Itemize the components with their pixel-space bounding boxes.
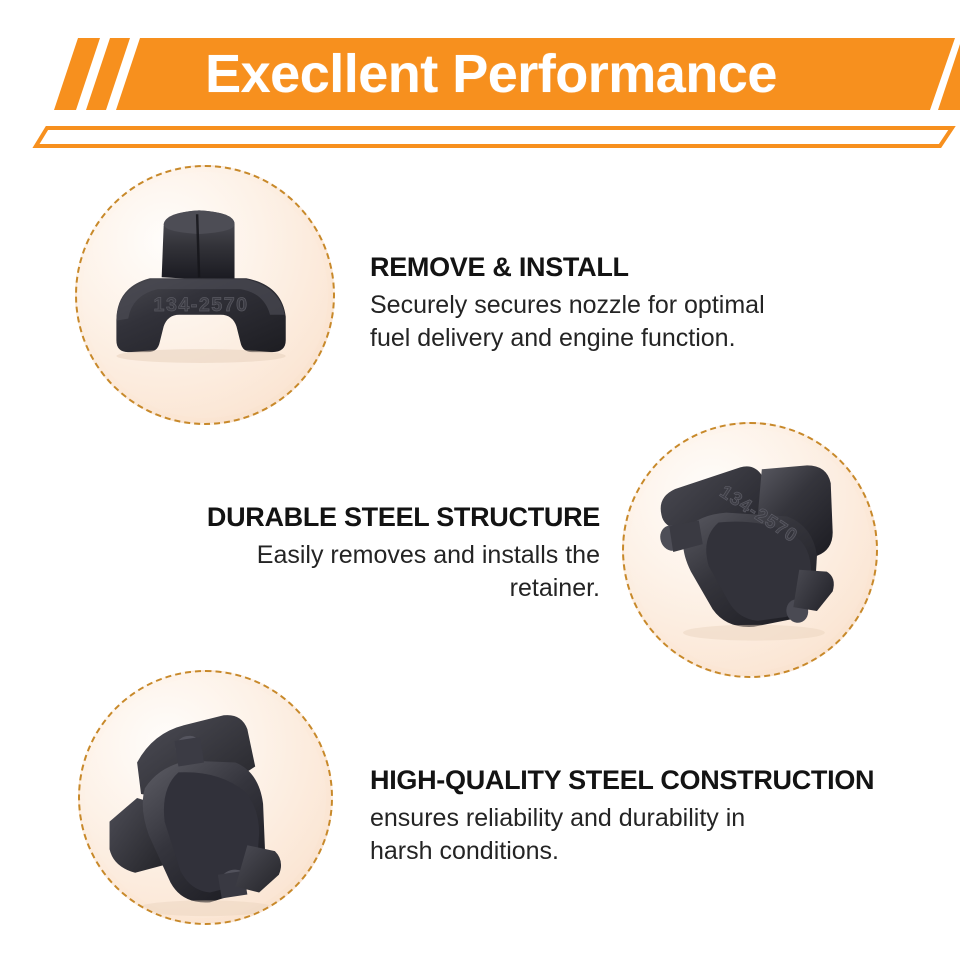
feature-title: REMOVE & INSTALL — [370, 252, 840, 284]
feature-text-remove-install: REMOVE & INSTALL Securely secures nozzle… — [370, 252, 840, 355]
feature-description: Securely secures nozzle for optimal fuel… — [370, 289, 840, 355]
feature-text-durable-steel-structure: DURABLE STEEL STRUCTURE Easily removes a… — [150, 502, 600, 605]
feature-image-remove-install: 134-2570 — [75, 165, 335, 425]
injector-nozzle-removal-tool-front-view-icon: 134-2570 — [77, 167, 333, 423]
injector-nozzle-removal-tool-angled-view-icon: 134-2570 — [624, 424, 876, 676]
feature-description-line: fuel delivery and engine function. — [370, 322, 840, 355]
feature-title: DURABLE STEEL STRUCTURE — [150, 502, 600, 534]
feature-description-line: ensures reliability and durability in — [370, 802, 900, 835]
product-feature-infographic: { "banner": { "title": "Execllent Perfor… — [0, 0, 960, 960]
feature-description-line: harsh conditions. — [370, 835, 900, 868]
header-banner: Execllent Performance — [0, 0, 960, 150]
feature-description: ensures reliability and durability in ha… — [370, 802, 900, 868]
feature-description-line: Easily removes and installs the — [150, 539, 600, 572]
feature-image-high-quality-steel-construction — [78, 670, 333, 925]
banner-underline-stripe — [36, 128, 952, 146]
feature-text-high-quality-steel-construction: HIGH-QUALITY STEEL CONSTRUCTION ensures … — [370, 765, 900, 868]
feature-description-line: retainer. — [150, 572, 600, 605]
feature-description: Easily removes and installs the retainer… — [150, 539, 600, 605]
injector-nozzle-removal-tool-side-view-icon — [80, 672, 331, 923]
page-title: Execllent Performance — [0, 38, 960, 110]
feature-image-durable-steel-structure: 134-2570 — [622, 422, 878, 678]
feature-title: HIGH-QUALITY STEEL CONSTRUCTION — [370, 765, 900, 797]
feature-description-line: Securely secures nozzle for optimal — [370, 289, 840, 322]
tool-part-number-label-1: 134-2570 — [154, 294, 249, 316]
